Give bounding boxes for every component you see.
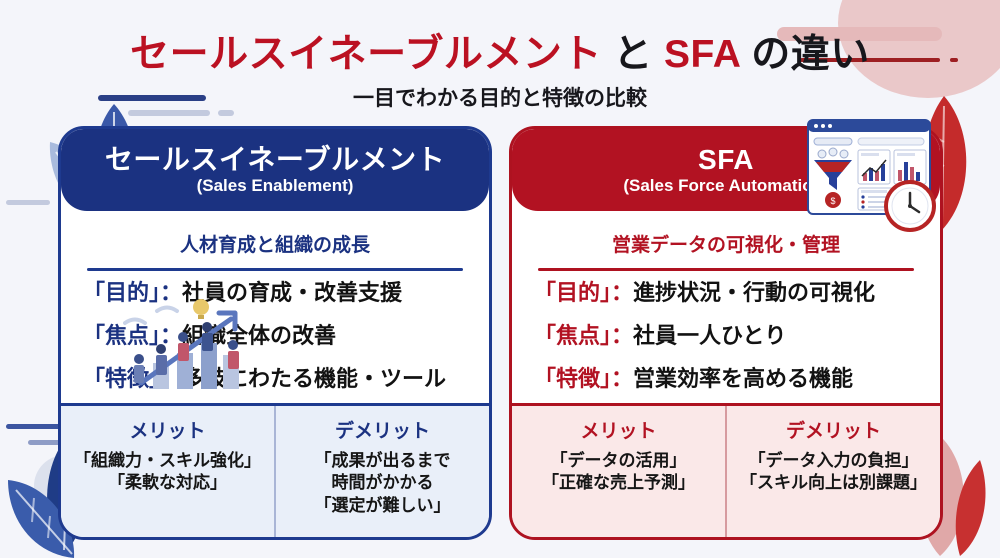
- bullet-feature-key: 「特徴」: [534, 366, 611, 391]
- bullet-purpose: 「目的」：進捗状況・行動の可視化: [534, 282, 920, 304]
- title-main: セールスイネーブルメント: [130, 33, 602, 76]
- merit-heading: メリット: [516, 416, 721, 443]
- sales-enablement-card-header: セールスイネーブルメント (Sales Enablement): [61, 129, 489, 211]
- bullet-feature: 「特徴」：営業効率を高める機能: [534, 368, 920, 390]
- sfa-demerit-column: デメリット 「データ入力の負担」 「スキル向上は別課題」: [725, 406, 940, 537]
- merit-line-2: 「柔軟な対応」: [65, 472, 270, 494]
- demerit-heading: デメリット: [280, 416, 485, 443]
- bullet-feature: 「特徴」：多岐にわたる機能・ツール: [83, 368, 469, 390]
- demerit-line-1: 「成果が出るまで: [280, 450, 485, 472]
- bullet-focus-key: 「焦点」: [83, 323, 160, 348]
- sales-enablement-bullets: 「目的」：社員の育成・改善支援 「焦点」：組織全体の改善 「特徴」：多岐にわたる…: [61, 271, 489, 390]
- sales-enablement-demerit-column: デメリット 「成果が出るまで 時間がかかる 「選定が難しい」: [274, 406, 489, 537]
- bullet-purpose-text: 進捗状況・行動の可視化: [633, 280, 875, 305]
- demerit-heading: デメリット: [731, 416, 936, 443]
- bullet-focus: 「焦点」：組織全体の改善: [83, 325, 469, 347]
- sales-enablement-footer: メリット 「組織力・スキル強化」 「柔軟な対応」 デメリット 「成果が出るまで …: [61, 403, 489, 537]
- bullet-focus-key: 「焦点」: [534, 323, 611, 348]
- bullet-purpose: 「目的」：社員の育成・改善支援: [83, 282, 469, 304]
- sfa-title: SFA: [698, 145, 754, 174]
- bullet-focus: 「焦点」：社員一人ひとり: [534, 325, 920, 347]
- bullet-focus-text: 組織全体の改善: [182, 323, 336, 348]
- sales-enablement-tagline: 人材育成と組織の成長: [61, 230, 489, 257]
- bullet-feature-sep: ：: [611, 366, 633, 391]
- bullet-feature-text: 営業効率を高める機能: [633, 366, 853, 391]
- bullet-focus-sep: ：: [160, 323, 182, 348]
- gray-line-decoration-mid: [6, 200, 50, 205]
- sfa-card: SFA (Sales Force Automation) 営業データの可視化・管…: [509, 126, 943, 540]
- bullet-purpose-key: 「目的」: [534, 280, 611, 305]
- bullet-focus-text: 社員一人ひとり: [633, 323, 786, 348]
- sfa-card-header: SFA (Sales Force Automation): [512, 129, 940, 211]
- sfa-bullets: 「目的」：進捗状況・行動の可視化 「焦点」：社員一人ひとり 「特徴」：営業効率を…: [512, 271, 940, 390]
- demerit-line-2: 時間がかかる: [280, 472, 485, 494]
- sfa-tagline: 営業データの可視化・管理: [512, 230, 940, 257]
- sfa-footer: メリット 「データの活用」 「正確な売上予測」 デメリット 「データ入力の負担」…: [512, 403, 940, 537]
- sales-enablement-subtitle-en: (Sales Enablement): [197, 177, 354, 195]
- title-tail: の違い: [751, 33, 870, 76]
- bullet-feature-key: 「特徴」: [83, 366, 160, 391]
- infographic-canvas: セールスイネーブルメント と SFA の違い 一目でわかる目的と特徴の比較 セー…: [0, 0, 1000, 558]
- demerit-line-2: 「スキル向上は別課題」: [731, 472, 936, 494]
- sales-enablement-title: セールスイネーブルメント: [105, 145, 445, 174]
- bullet-purpose-text: 社員の育成・改善支援: [182, 280, 402, 305]
- sfa-subtitle-en: (Sales Force Automation): [623, 177, 828, 195]
- bullet-feature-text: 多岐にわたる機能・ツール: [182, 366, 446, 391]
- title-connector: と: [613, 33, 653, 76]
- demerit-line-1: 「データ入力の負担」: [731, 450, 936, 472]
- demerit-line-3: 「選定が難しい」: [280, 495, 485, 517]
- bullet-focus-sep: ：: [611, 323, 633, 348]
- sales-enablement-card: セールスイネーブルメント (Sales Enablement): [58, 126, 492, 540]
- bullet-feature-sep: ：: [160, 366, 182, 391]
- page-title: セールスイネーブルメント と SFA の違い: [0, 23, 1000, 79]
- bullet-purpose-key: 「目的」: [83, 280, 160, 305]
- merit-line-1: 「データの活用」: [516, 450, 721, 472]
- merit-line-2: 「正確な売上予測」: [516, 472, 721, 494]
- sfa-merit-column: メリット 「データの活用」 「正確な売上予測」: [512, 406, 725, 537]
- bullet-purpose-sep: ：: [611, 280, 633, 305]
- sales-enablement-merit-column: メリット 「組織力・スキル強化」 「柔軟な対応」: [61, 406, 274, 537]
- merit-heading: メリット: [65, 416, 270, 443]
- bullet-purpose-sep: ：: [160, 280, 182, 305]
- title-acronym: SFA: [664, 33, 740, 76]
- page-subtitle: 一目でわかる目的と特徴の比較: [0, 82, 1000, 112]
- merit-line-1: 「組織力・スキル強化」: [65, 450, 270, 472]
